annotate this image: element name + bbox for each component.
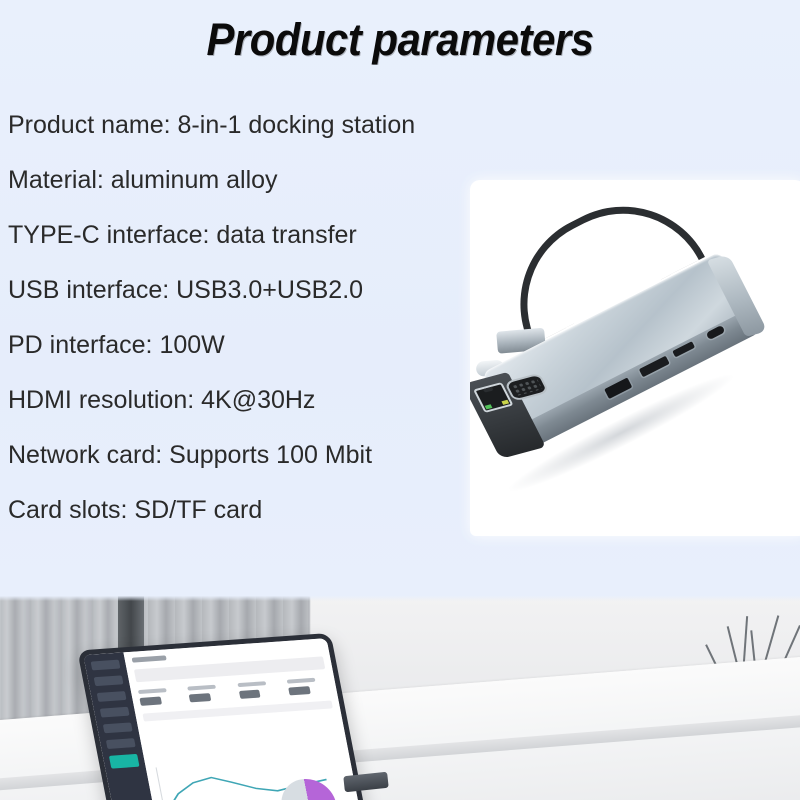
product-parameters-page: Product parameters Product name: 8-in-1 … [0,0,800,800]
stat-value [189,693,212,702]
rj45-green-led [485,404,493,409]
dashboard-charts [154,752,355,800]
stat-card [138,687,182,706]
spec-line-pd-interface: PD interface: 100W [8,318,468,373]
spec-line-hdmi-resolution: HDMI resolution: 4K@30Hz [8,373,468,428]
spec-list: Product name: 8-in-1 docking station Mat… [8,98,468,538]
stat-card [237,680,281,699]
stat-value [139,697,162,706]
stat-label [237,681,266,687]
sidebar-item-active [109,754,140,769]
sidebar-item [106,738,136,749]
sidebar-item [100,707,130,718]
dashboard-heading [132,655,167,662]
spec-line-type-c-interface: TYPE-C interface: data transfer [8,208,468,263]
spec-section: Product parameters Product name: 8-in-1 … [0,0,800,596]
product-image [470,180,800,536]
spec-line-material: Material: aluminum alloy [8,153,468,208]
lifestyle-photo [0,596,800,800]
stat-label [286,678,315,684]
stat-card-row [138,677,330,706]
stat-label [138,688,167,694]
spec-line-usb-interface: USB interface: USB3.0+USB2.0 [8,263,468,318]
tablet-device [77,633,367,800]
stat-label [187,685,216,691]
spec-line-network-card: Network card: Supports 100 Mbit [8,428,468,483]
stat-value [238,690,261,699]
sidebar-item [97,691,127,702]
product-photo-panel [470,180,800,536]
photo-top-fade [0,596,800,601]
spec-line-card-slots: Card slots: SD/TF card [8,483,468,538]
sidebar-item [91,660,121,671]
spec-line-product-name: Product name: 8-in-1 docking station [8,98,468,153]
stat-card [187,684,231,703]
page-title: Product parameters [28,14,772,66]
dashboard-content [123,638,360,800]
tablet-screen [83,638,361,800]
sidebar-item [103,722,133,733]
rj45-yellow-led [501,400,509,405]
stat-value [288,686,311,695]
stat-card [286,677,330,696]
vga-pins [511,378,542,396]
sidebar-item [94,675,124,686]
